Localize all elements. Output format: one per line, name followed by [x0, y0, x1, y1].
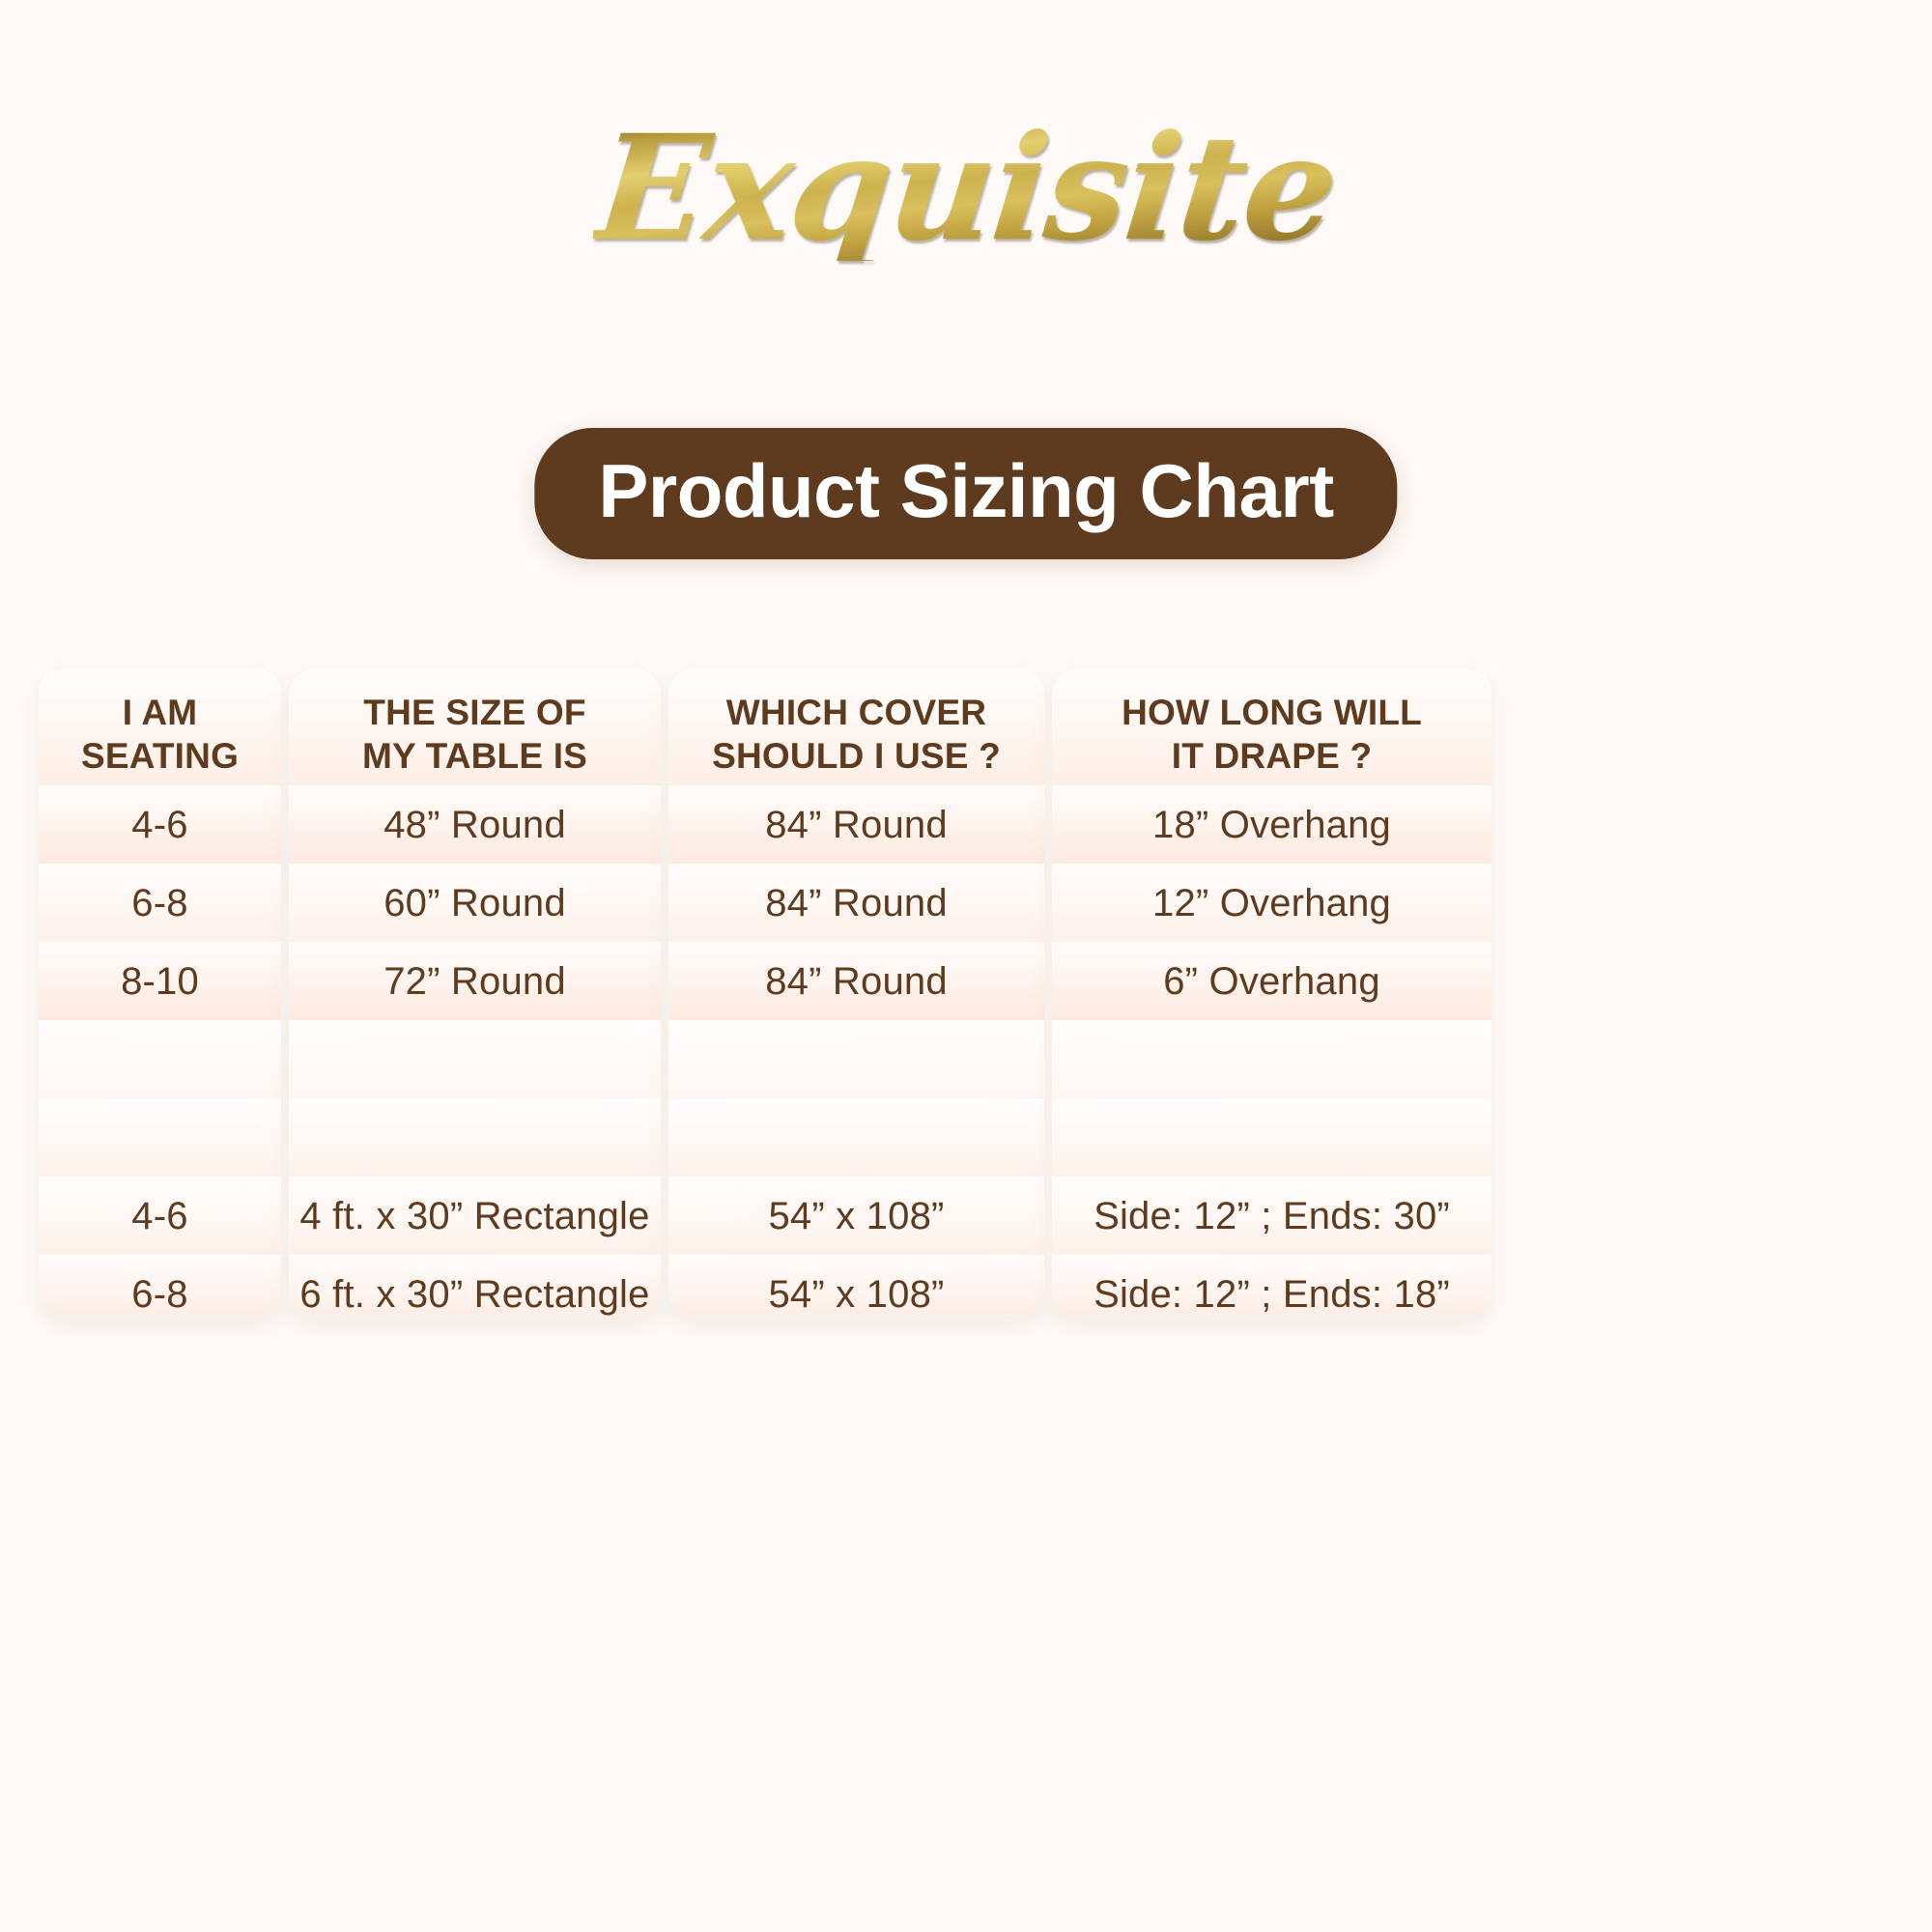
table-column-cover: WHICH COVER SHOULD I USE ? 84” Round 84”… — [668, 669, 1044, 1317]
table-row-spacer — [668, 1020, 1044, 1098]
cell-value: 6-8 — [131, 1272, 187, 1317]
cell-value: Side: 12” ; Ends: 18” — [1094, 1272, 1450, 1317]
sizing-table: I AM SEATING 4-6 6-8 8-10 4-6 6-8 8-10 T… — [39, 669, 1893, 1317]
cell-value: 12” Overhang — [1152, 881, 1391, 925]
cell-value: 4-6 — [131, 1194, 187, 1238]
table-column-seating: I AM SEATING 4-6 6-8 8-10 4-6 6-8 8-10 — [39, 669, 281, 1317]
cell-value: 60” Round — [384, 881, 566, 925]
column-header-label: I AM SEATING — [81, 691, 239, 778]
table-row: 6-8 — [39, 1255, 281, 1317]
brand-logo-text: Exquisite — [590, 116, 1343, 261]
table-column-table-size: THE SIZE OF MY TABLE IS 48” Round 60” Ro… — [289, 669, 661, 1317]
table-row: 6” Overhang — [1052, 942, 1492, 1020]
table-row: 4 ft. x 30” Rectangle — [289, 1177, 661, 1255]
column-header-label: WHICH COVER SHOULD I USE ? — [712, 691, 1001, 778]
column-header: WHICH COVER SHOULD I USE ? — [668, 669, 1044, 785]
table-row-spacer — [289, 1098, 661, 1177]
cell-value: 48” Round — [384, 803, 566, 847]
page-title: Product Sizing Chart — [598, 453, 1333, 528]
column-header: HOW LONG WILL IT DRAPE ? — [1052, 669, 1492, 785]
table-row: 84” Round — [668, 864, 1044, 942]
sizing-chart-page: Exquisite Product Sizing Chart I AM SEAT… — [0, 0, 1932, 1932]
table-row: 12” Overhang — [1052, 864, 1492, 942]
brand-logo: Exquisite — [0, 77, 1932, 299]
cell-value: 54” x 108” — [768, 1194, 944, 1238]
column-header: I AM SEATING — [39, 669, 281, 785]
cell-value: 72” Round — [384, 959, 566, 1004]
table-row: Side: 12” ; Ends: 30” — [1052, 1177, 1492, 1255]
cell-value: 4-6 — [131, 803, 187, 847]
table-row-spacer — [39, 1020, 281, 1098]
column-header-label: THE SIZE OF MY TABLE IS — [362, 691, 587, 778]
table-row: 6 ft. x 30” Rectangle — [289, 1255, 661, 1317]
table-column-drape: HOW LONG WILL IT DRAPE ? 18” Overhang 12… — [1052, 669, 1492, 1317]
cell-value: 6-8 — [131, 881, 187, 925]
cell-value: 8-10 — [121, 959, 199, 1004]
table-row: 4-6 — [39, 1177, 281, 1255]
page-title-banner: Product Sizing Chart — [534, 428, 1397, 559]
cell-value: 4 ft. x 30” Rectangle — [299, 1194, 649, 1238]
column-header-label: HOW LONG WILL IT DRAPE ? — [1122, 691, 1422, 778]
cell-value: 54” x 108” — [768, 1272, 944, 1317]
table-row: 54” x 108” — [668, 1255, 1044, 1317]
cell-value: 6” Overhang — [1163, 959, 1380, 1004]
cell-value: 18” Overhang — [1152, 803, 1391, 847]
table-row: 72” Round — [289, 942, 661, 1020]
cell-value: 6 ft. x 30” Rectangle — [299, 1272, 649, 1317]
table-row-spacer — [289, 1020, 661, 1098]
table-row: 4-6 — [39, 785, 281, 864]
cell-value: 84” Round — [765, 881, 948, 925]
table-row-spacer — [1052, 1098, 1492, 1177]
table-row-spacer — [39, 1098, 281, 1177]
cell-value: 84” Round — [765, 803, 948, 847]
table-row: 8-10 — [39, 942, 281, 1020]
table-row: 48” Round — [289, 785, 661, 864]
column-header: THE SIZE OF MY TABLE IS — [289, 669, 661, 785]
table-row-spacer — [1052, 1020, 1492, 1098]
table-row: 6-8 — [39, 864, 281, 942]
table-row: 54” x 108” — [668, 1177, 1044, 1255]
table-row: Side: 12” ; Ends: 18” — [1052, 1255, 1492, 1317]
table-row: 60” Round — [289, 864, 661, 942]
table-row-spacer — [668, 1098, 1044, 1177]
cell-value: 84” Round — [765, 959, 948, 1004]
table-row: 84” Round — [668, 942, 1044, 1020]
cell-value: Side: 12” ; Ends: 30” — [1094, 1194, 1450, 1238]
table-row: 18” Overhang — [1052, 785, 1492, 864]
table-row: 84” Round — [668, 785, 1044, 864]
